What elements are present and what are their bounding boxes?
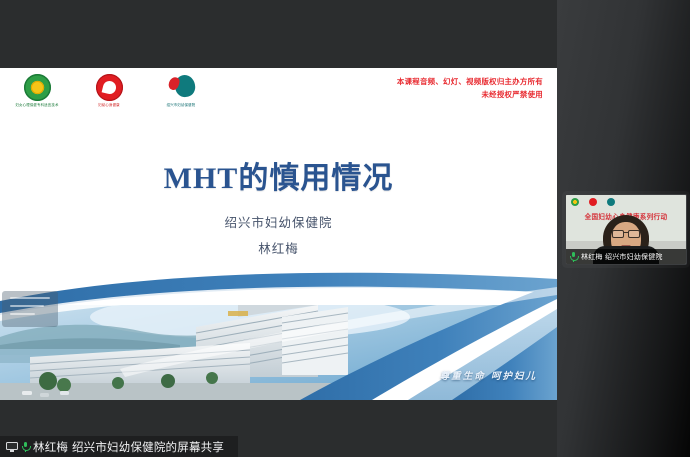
microphone-icon xyxy=(570,252,577,262)
red-circle-badge-icon xyxy=(96,74,123,101)
logo-item: 妇幼心身健康 xyxy=(86,74,132,107)
slide-subtitle: 绍兴市妇幼保健院 林红梅 xyxy=(0,210,557,263)
screen-share-status-text: 林红梅 绍兴市妇幼保健院的屏幕共享 xyxy=(33,439,224,455)
logo-item: 妇女心理保健专科适宜技术 xyxy=(14,74,60,107)
slide-title: MHT的慎用情况 xyxy=(0,153,557,197)
participant-video-tile[interactable]: 全国妇幼心身健康系列行动 主办单位 林红梅 绍兴市妇幼保健院 xyxy=(565,194,687,265)
top-letterbox xyxy=(0,0,557,68)
slide-logo-row: 妇女心理保健专科适宜技术 妇幼心身健康 绍兴市妇幼保健院 xyxy=(14,74,204,107)
screen-share-status-bar: 林红梅 绍兴市妇幼保健院的屏幕共享 xyxy=(0,436,238,457)
teal-mother-child-icon xyxy=(168,74,195,101)
copyright-notice: 本课程音频、幻灯、视频版权归主办方所有 未经授权严禁使用 xyxy=(397,76,543,102)
logo-caption: 妇幼心身健康 xyxy=(98,103,120,107)
copyright-line-2: 未经授权严禁使用 xyxy=(397,89,543,102)
subtitle-presenter: 林红梅 xyxy=(0,236,557,262)
slide-footer-graphic: 尊重生命 呵护妇儿 xyxy=(0,265,557,400)
slide-overlay-plaque xyxy=(2,291,58,327)
video-banner-logos xyxy=(571,198,615,206)
logo-caption: 绍兴市妇幼保健院 xyxy=(167,103,196,107)
red-circle-badge-icon xyxy=(589,198,597,206)
meeting-window: 妇女心理保健专科适宜技术 妇幼心身健康 绍兴市妇幼保健院 本课程音频、幻灯、视频… xyxy=(0,0,690,457)
glasses-icon xyxy=(628,230,640,238)
logo-item: 绍兴市妇幼保健院 xyxy=(158,74,204,107)
flower-badge-icon xyxy=(24,74,51,101)
screen-share-icon xyxy=(6,442,18,452)
glasses-icon xyxy=(612,230,624,238)
flower-badge-icon xyxy=(571,198,579,206)
participant-name: 林红梅 绍兴市妇幼保健院 xyxy=(581,252,663,262)
slide-slogan: 尊重生命 呵护妇儿 xyxy=(440,368,537,382)
video-name-bar: 林红梅 绍兴市妇幼保健院 xyxy=(566,249,686,264)
subtitle-organization: 绍兴市妇幼保健院 xyxy=(0,210,557,236)
logo-caption: 妇女心理保健专科适宜技术 xyxy=(15,103,58,107)
microphone-icon xyxy=(22,442,29,452)
teal-mother-child-icon xyxy=(607,198,615,206)
copyright-line-1: 本课程音频、幻灯、视频版权归主办方所有 xyxy=(397,76,543,89)
shared-slide[interactable]: 妇女心理保健专科适宜技术 妇幼心身健康 绍兴市妇幼保健院 本课程音频、幻灯、视频… xyxy=(0,68,557,400)
